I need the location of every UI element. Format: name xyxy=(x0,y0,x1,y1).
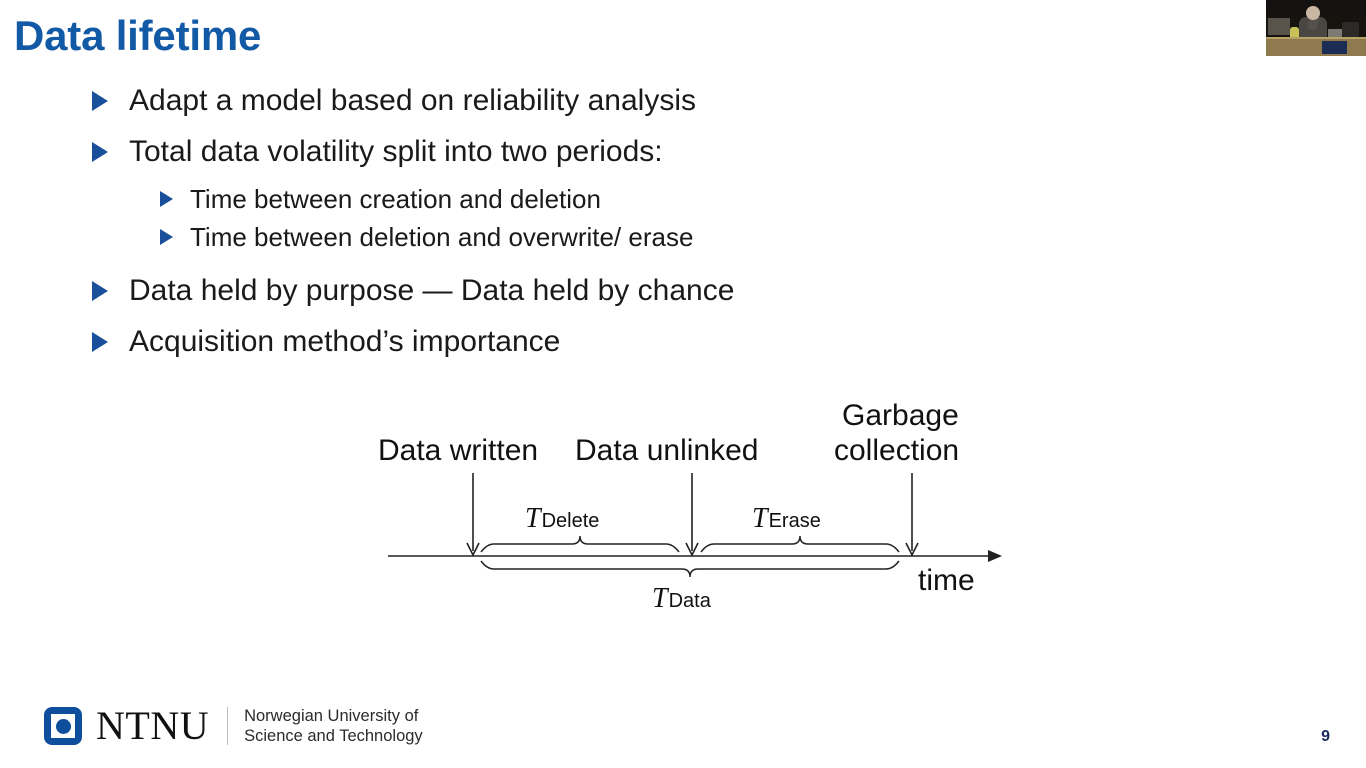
projection-screen xyxy=(1268,18,1290,35)
bullet-item: Adapt a model based on reliability analy… xyxy=(92,78,1192,124)
triangle-bullet-icon xyxy=(160,229,173,245)
sub-bullet-item: Time between creation and deletion xyxy=(160,180,1192,218)
logo-dot xyxy=(56,719,71,734)
bullet-item: Data held by purpose — Data held by chan… xyxy=(92,268,1192,314)
brace-t-delete xyxy=(481,536,679,552)
triangle-bullet-icon xyxy=(92,281,108,301)
slide-canvas: Data lifetime Adapt a model based on rel… xyxy=(0,0,1366,768)
interval-label-t-erase: TErase xyxy=(752,503,821,534)
t-delete-sub: Delete xyxy=(542,510,600,532)
label-garbage-line2: collection xyxy=(834,434,959,467)
event-pointer-data-written xyxy=(467,473,479,555)
sub-bullet-label: Time between deletion and overwrite/ era… xyxy=(190,218,693,256)
ntnu-subtitle: Norwegian University of Science and Tech… xyxy=(244,706,423,746)
ntnu-subtitle-line1: Norwegian University of xyxy=(244,706,423,726)
triangle-bullet-icon xyxy=(92,142,108,162)
label-data-written: Data written xyxy=(378,434,538,467)
ntnu-wordmark: NTNU xyxy=(96,706,209,746)
bullet-label: Adapt a model based on reliability analy… xyxy=(129,78,696,124)
bullet-item: Total data volatility split into two per… xyxy=(92,129,1192,175)
triangle-bullet-icon xyxy=(92,332,108,352)
interval-label-t-delete: TDelete xyxy=(525,503,599,534)
t-erase-sub: Erase xyxy=(769,510,821,532)
bullet-item: Acquisition method’s importance xyxy=(92,319,1192,365)
monitor xyxy=(1342,22,1359,37)
svg-text:TDelete: TDelete xyxy=(525,503,599,534)
bullet-list: Adapt a model based on reliability analy… xyxy=(92,78,1192,370)
ntnu-logo-mark-icon xyxy=(44,707,82,745)
interval-label-t-data: TData xyxy=(652,583,712,614)
label-data-unlinked: Data unlinked xyxy=(575,434,758,467)
logo-divider xyxy=(227,707,228,745)
page-title: Data lifetime xyxy=(14,12,261,60)
t-erase-var: T xyxy=(752,503,770,534)
bullet-label: Data held by purpose — Data held by chan… xyxy=(129,268,734,314)
event-pointer-garbage-collection xyxy=(906,473,918,555)
axis-label-time: time xyxy=(918,564,975,597)
label-garbage-line1: Garbage xyxy=(842,399,959,432)
t-data-var: T xyxy=(652,583,670,614)
page-number: 9 xyxy=(1321,728,1330,746)
brace-t-data xyxy=(481,561,899,577)
t-data-sub: Data xyxy=(669,590,712,612)
sub-bullet-label: Time between creation and deletion xyxy=(190,180,601,218)
event-pointer-data-unlinked xyxy=(686,473,698,555)
triangle-bullet-icon xyxy=(160,191,173,207)
sub-bullet-item: Time between deletion and overwrite/ era… xyxy=(160,218,1192,256)
svg-text:TErase: TErase xyxy=(752,503,821,534)
brace-t-erase xyxy=(701,536,899,552)
triangle-bullet-icon xyxy=(92,91,108,111)
ntnu-logo: NTNU Norwegian University of Science and… xyxy=(44,703,423,749)
speaker-video-overlay[interactable] xyxy=(1266,0,1366,56)
podium-sign xyxy=(1322,41,1347,54)
speaker-head xyxy=(1306,6,1320,20)
ntnu-subtitle-line2: Science and Technology xyxy=(244,726,423,746)
svg-text:TData: TData xyxy=(652,583,712,614)
lectern xyxy=(1266,39,1366,56)
bullet-label: Total data volatility split into two per… xyxy=(129,129,663,175)
data-lifetime-timeline-diagram: Data written Data unlinked Garbage colle… xyxy=(360,385,1020,620)
logo-ring xyxy=(51,714,75,738)
t-delete-var: T xyxy=(525,503,543,534)
bullet-label: Acquisition method’s importance xyxy=(129,319,560,365)
